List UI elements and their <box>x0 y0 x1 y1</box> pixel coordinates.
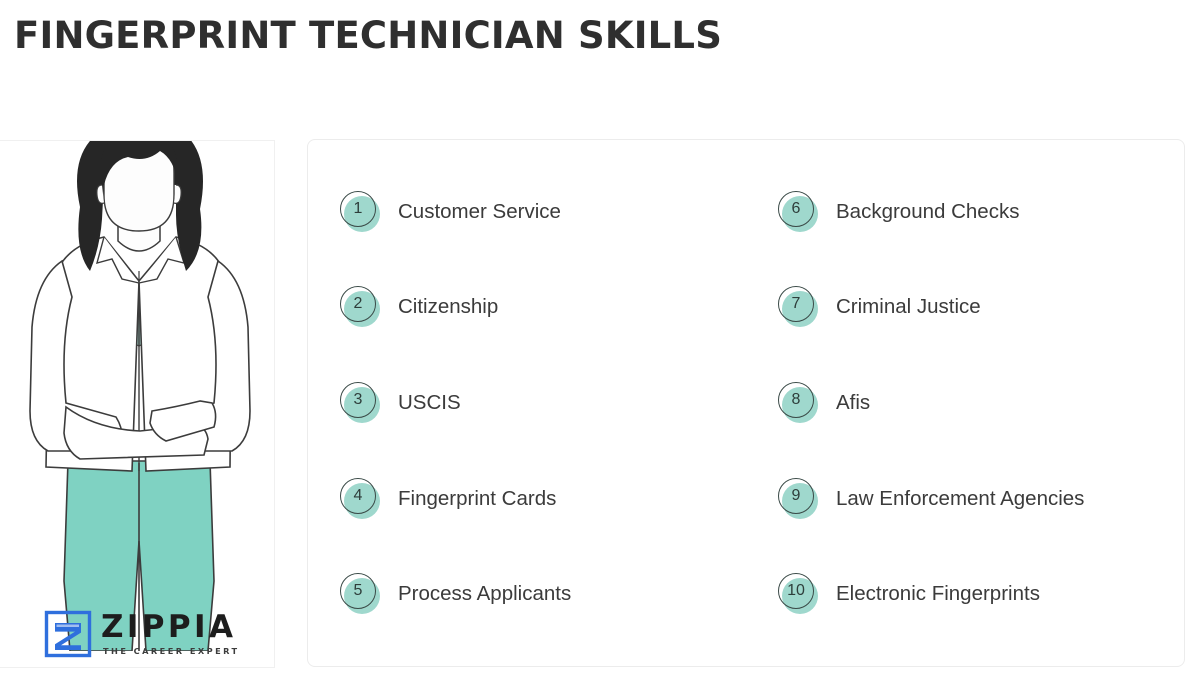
skill-item: 6Background Checks <box>746 164 1184 260</box>
illustration-panel <box>0 140 275 668</box>
zippia-logo: ZIPPIA THE CAREER EXPERT <box>44 610 240 658</box>
skill-item: 7Criminal Justice <box>746 260 1184 356</box>
skill-item: 3USCIS <box>308 355 746 451</box>
skill-label: Law Enforcement Agencies <box>836 487 1084 511</box>
skill-number-badge: 9 <box>777 477 821 521</box>
skill-label: Background Checks <box>836 200 1019 224</box>
zippia-wordmark: ZIPPIA <box>101 612 240 643</box>
zippia-z-mark <box>44 610 92 658</box>
skill-label: Citizenship <box>398 295 498 319</box>
skill-label: Customer Service <box>398 200 561 224</box>
skill-number-badge: 2 <box>339 285 383 329</box>
skill-item: 4Fingerprint Cards <box>308 451 746 547</box>
fingerprint-technician-illustration <box>0 140 275 651</box>
skills-panel: 1Customer Service2Citizenship3USCIS4Fing… <box>307 139 1185 667</box>
skill-number-badge: 3 <box>339 381 383 425</box>
skill-label: Fingerprint Cards <box>398 487 556 511</box>
skill-number: 7 <box>778 286 814 322</box>
skill-label: Electronic Fingerprints <box>836 582 1040 606</box>
skill-label: Process Applicants <box>398 582 571 606</box>
page-title: FINGERPRINT TECHNICIAN SKILLS <box>14 14 722 57</box>
skills-grid: 1Customer Service2Citizenship3USCIS4Fing… <box>308 140 1184 666</box>
skill-item: 10Electronic Fingerprints <box>746 546 1184 642</box>
skill-number-badge: 5 <box>339 572 383 616</box>
skill-number: 1 <box>340 191 376 227</box>
zippia-tagline: THE CAREER EXPERT <box>103 647 240 655</box>
skill-number-badge: 6 <box>777 190 821 234</box>
skill-number-badge: 10 <box>777 572 821 616</box>
skill-item: 9Law Enforcement Agencies <box>746 451 1184 547</box>
skill-number-badge: 8 <box>777 381 821 425</box>
skill-number: 10 <box>778 573 814 609</box>
skill-label: USCIS <box>398 391 461 415</box>
skill-number: 3 <box>340 382 376 418</box>
skill-number: 4 <box>340 478 376 514</box>
skill-item: 2Citizenship <box>308 260 746 356</box>
skill-item: 8Afis <box>746 355 1184 451</box>
skill-number-badge: 7 <box>777 285 821 329</box>
skill-label: Afis <box>836 391 870 415</box>
skill-item: 5Process Applicants <box>308 546 746 642</box>
skill-number-badge: 4 <box>339 477 383 521</box>
skill-number: 8 <box>778 382 814 418</box>
skill-number: 2 <box>340 286 376 322</box>
skill-label: Criminal Justice <box>836 295 981 319</box>
skill-number: 9 <box>778 478 814 514</box>
skill-number: 6 <box>778 191 814 227</box>
skill-number-badge: 1 <box>339 190 383 234</box>
skill-item: 1Customer Service <box>308 164 746 260</box>
skill-number: 5 <box>340 573 376 609</box>
